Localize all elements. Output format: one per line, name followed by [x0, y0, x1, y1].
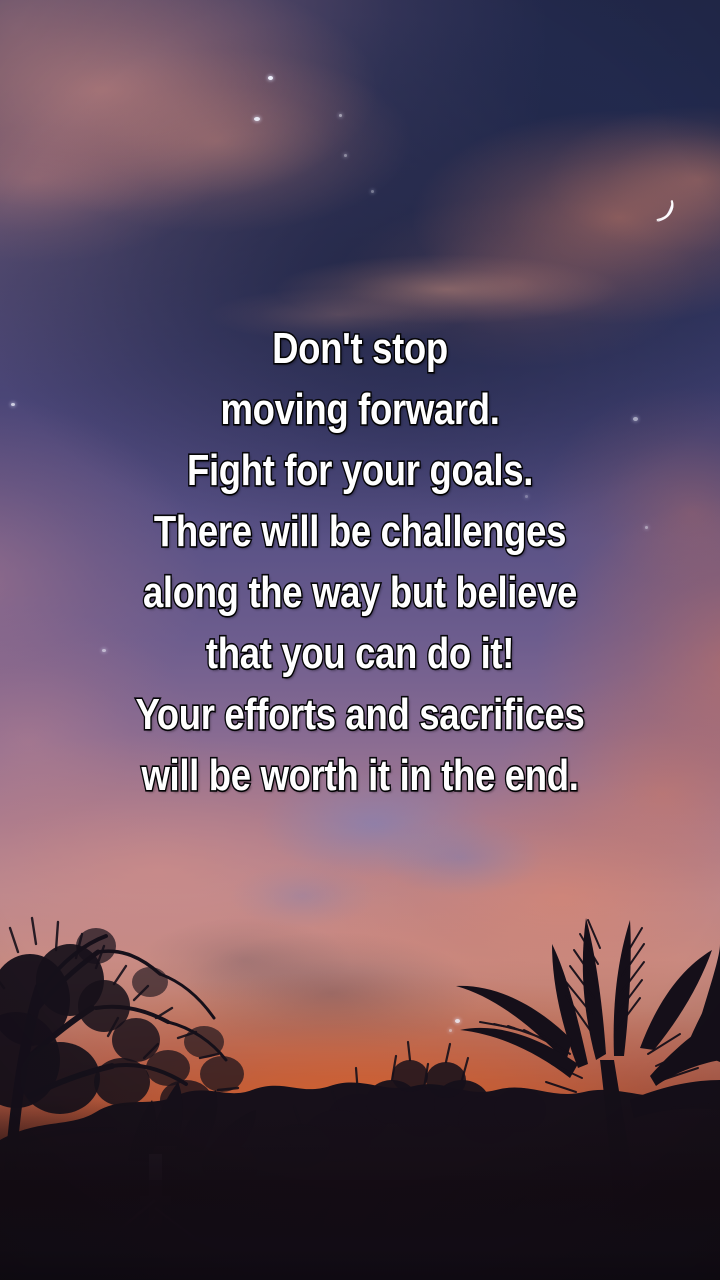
star-icon — [455, 1019, 460, 1023]
quote-line-4: There will be challenges — [61, 501, 659, 562]
quote-line-5: along the way but believe — [61, 562, 659, 623]
star-icon — [344, 154, 347, 157]
star-icon — [449, 1029, 452, 1032]
quote-line-1: Don't stop — [61, 318, 659, 379]
quote-line-6: that you can do it! — [61, 623, 659, 684]
star-icon — [339, 114, 342, 117]
quote-line-2: moving forward. — [61, 379, 659, 440]
quote-line-7: Your efforts and sacrifices — [61, 684, 659, 745]
foreground-dark-fade — [0, 1100, 720, 1280]
quote-block: Don't stop moving forward. Fight for you… — [0, 318, 720, 806]
star-icon — [268, 76, 273, 80]
quote-line-8: will be worth it in the end. — [61, 745, 659, 806]
quote-line-3: Fight for your goals. — [61, 440, 659, 501]
wallpaper-canvas: Don't stop moving forward. Fight for you… — [0, 0, 720, 1280]
crescent-moon-icon — [652, 198, 678, 228]
star-icon — [254, 117, 260, 121]
star-icon — [371, 190, 374, 193]
